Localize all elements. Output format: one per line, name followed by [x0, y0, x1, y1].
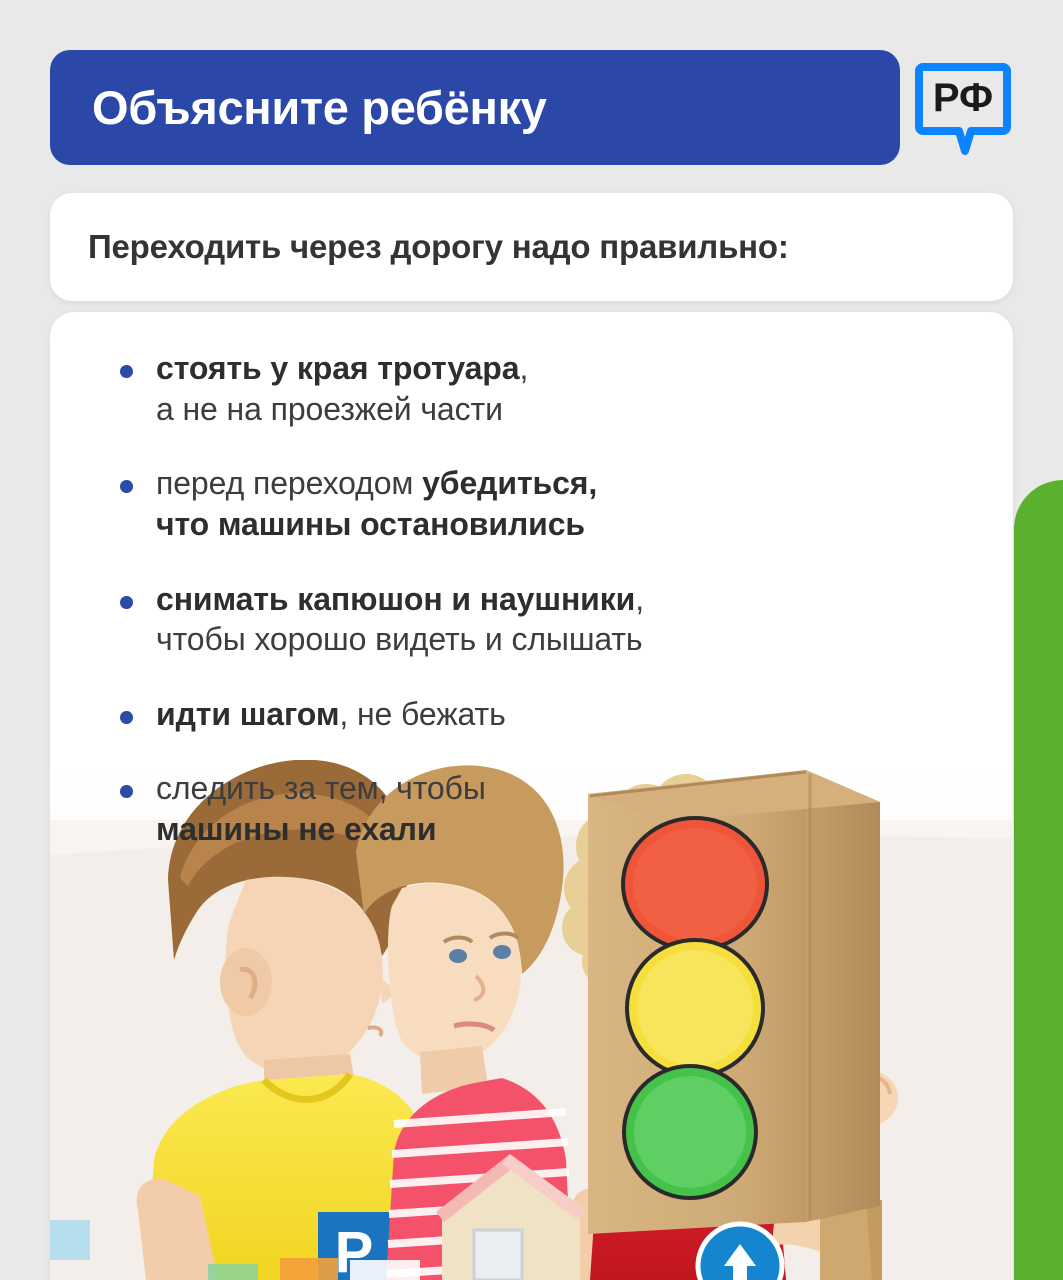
list-item-emphasis-2: что машины остановились: [156, 506, 585, 542]
list-item-line1: перед переходом убедиться,: [156, 463, 969, 504]
poster-root: Объясните ребёнку РФ Переходить через до…: [0, 0, 1063, 1280]
traffic-lights: [623, 818, 767, 1198]
list-item-line2: чтобы хорошо видеть и слышать: [156, 619, 969, 660]
page-title: Объясните ребёнку: [92, 84, 547, 131]
bullet-dot-icon: [120, 711, 133, 724]
bullet-dot-icon: [120, 480, 133, 493]
header: Объясните ребёнку РФ: [50, 50, 1013, 165]
list-item-tail: , не бежать: [339, 696, 505, 732]
list-item-line1: снимать капюшон и наушники,: [156, 579, 969, 620]
list-item: следить за тем, чтобы машины не ехали: [110, 768, 969, 849]
green-accent-shape: [1014, 480, 1063, 1280]
list-item-emphasis: идти шагом: [156, 696, 339, 732]
list-item-line1: идти шагом, не бежать: [156, 694, 969, 735]
content-card: стоять у края тротуара, а не на проезжей…: [50, 312, 1013, 1280]
list-item-tail: ,: [519, 350, 528, 386]
bullet-dot-icon: [120, 785, 133, 798]
list-item-emphasis: убедиться,: [422, 465, 597, 501]
subtitle-text: Переходить через дорогу надо правильно:: [88, 228, 789, 266]
rf-speech-bubble-logo: РФ: [913, 53, 1013, 161]
bullet-dot-icon: [120, 365, 133, 378]
list-item-emphasis: снимать капюшон и наушники: [156, 581, 635, 617]
list-item-emphasis: стоять у края тротуара: [156, 350, 519, 386]
rules-list: стоять у края тротуара, а не на проезжей…: [50, 312, 1013, 850]
list-item: снимать капюшон и наушники, чтобы хорошо…: [110, 579, 969, 660]
list-item: стоять у края тротуара, а не на проезжей…: [110, 348, 969, 429]
list-item-line2: что машины остановились: [156, 504, 969, 545]
list-item-line2: а не на проезжей части: [156, 389, 969, 430]
subtitle-card: Переходить через дорогу надо правильно:: [50, 193, 1013, 301]
svg-text:РФ: РФ: [933, 76, 993, 120]
list-item-lead: перед переходом: [156, 465, 422, 501]
list-item-line1: следить за тем, чтобы: [156, 768, 969, 809]
list-item-line2: машины не ехали: [156, 809, 969, 850]
bullet-dot-icon: [120, 596, 133, 609]
list-item: перед переходом убедиться, что машины ос…: [110, 463, 969, 544]
list-item-emphasis: машины не ехали: [156, 811, 436, 847]
list-item-tail: ,: [635, 581, 644, 617]
list-item: идти шагом, не бежать: [110, 694, 969, 735]
list-item-line1: стоять у края тротуара,: [156, 348, 969, 389]
title-pill: Объясните ребёнку: [50, 50, 900, 165]
